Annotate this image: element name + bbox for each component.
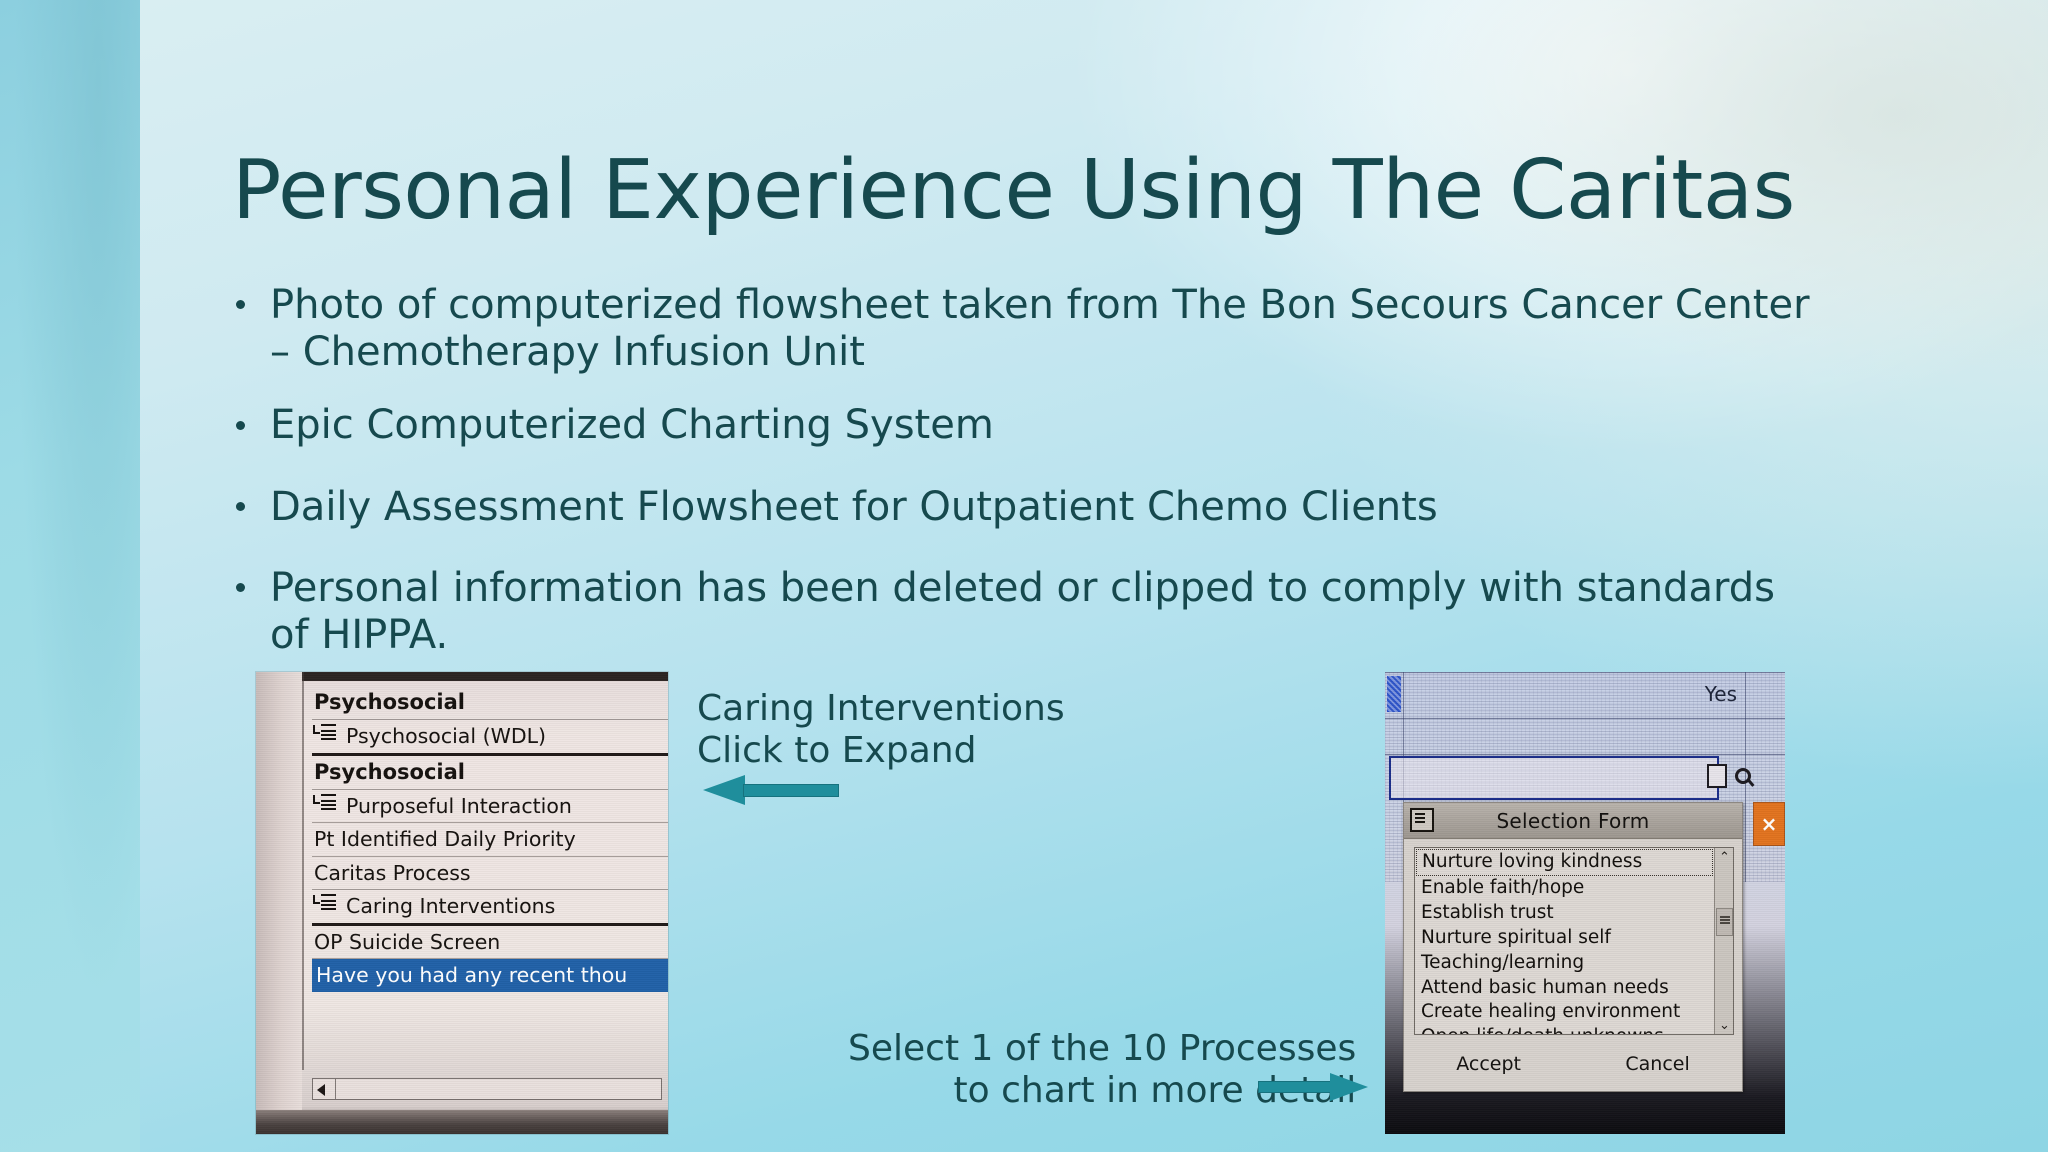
list-item-nurture-spiritual-self[interactable]: Nurture spiritual self (1415, 926, 1733, 951)
accept-button[interactable]: Accept (1446, 1051, 1531, 1077)
flowsheet-row-selected-question[interactable]: Have you had any recent thou (312, 959, 668, 992)
photo-bottom-edge (256, 1110, 668, 1134)
flowsheet-row-psychosocial-wdl[interactable]: Psychosocial (WDL) (312, 720, 668, 753)
arrow-left-icon (703, 775, 839, 805)
flowsheet-row-header-psychosocial: Psychosocial (312, 686, 668, 719)
callout-left-line2: Click to Expand (697, 730, 1065, 772)
photo-left-shade (256, 672, 302, 1134)
flowsheet-column-divider (302, 672, 304, 1070)
list-item-teaching-learning[interactable]: Teaching/learning (1415, 951, 1733, 976)
scroll-up-arrow-icon[interactable]: ⌃ (1715, 848, 1734, 866)
close-button[interactable]: × (1753, 802, 1785, 846)
selection-form-dialog: Selection Form Nurture loving kindness E… (1403, 802, 1743, 1092)
left-accent-band (0, 0, 140, 1152)
list-item-create-healing-environment[interactable]: Create healing environment (1415, 1000, 1733, 1025)
arrow-head (703, 775, 745, 805)
callout-left-line1: Caring Interventions (697, 688, 1065, 730)
cancel-button[interactable]: Cancel (1615, 1051, 1699, 1077)
epic-flowsheet-photo: Psychosocial Psychosocial (WDL) Psychoso… (256, 672, 668, 1134)
list-item-attend-basic-human-needs[interactable]: Attend basic human needs (1415, 975, 1733, 1000)
expand-list-icon (313, 794, 337, 814)
bullet-text-1: Photo of computerized flowsheet taken fr… (270, 282, 1810, 375)
list-item-open-life-death-unknowns[interactable]: Open life/death unknowns (1415, 1025, 1733, 1035)
bullet-text-4: Personal information has been deleted or… (270, 565, 1775, 658)
document-icon[interactable] (1707, 764, 1727, 788)
flowsheet-row-caritas-process[interactable]: Caritas Process (312, 857, 668, 890)
arrow-right-icon (1258, 1073, 1368, 1101)
bullet-item-4: Personal information has been deleted or… (232, 565, 1812, 659)
bullet-dot-icon (236, 421, 245, 430)
dialog-title: Selection Form (1496, 809, 1649, 833)
dialog-titlebar[interactable]: Selection Form (1404, 803, 1742, 839)
flowsheet-rows: Psychosocial Psychosocial (WDL) Psychoso… (312, 686, 668, 992)
search-icon[interactable] (1735, 768, 1751, 784)
arrow-shaft (1258, 1081, 1334, 1093)
bullet-dot-icon (236, 502, 245, 511)
flowsheet-row-pt-identified-daily-priority[interactable]: Pt Identified Daily Priority (312, 823, 668, 856)
expand-list-icon (313, 724, 337, 744)
arrow-shaft (743, 784, 839, 797)
grid-selected-cell[interactable] (1387, 676, 1401, 712)
grid-row-line (1385, 718, 1785, 719)
list-item-enable-faith-hope[interactable]: Enable faith/hope (1415, 876, 1733, 901)
row-label: Psychosocial (WDL) (346, 724, 546, 748)
bullet-dot-icon (236, 300, 245, 309)
scrollbar-divider (335, 1079, 336, 1099)
grid-row-line (1385, 754, 1785, 755)
bullet-dot-icon (236, 583, 245, 592)
list-item-nurture-loving-kindness[interactable]: Nurture loving kindness (1416, 849, 1713, 876)
flowsheet-row-purposeful-interaction[interactable]: Purposeful Interaction (312, 790, 668, 823)
arrow-head (1330, 1073, 1368, 1101)
horizontal-scrollbar[interactable] (312, 1078, 662, 1100)
bullet-text-2: Epic Computerized Charting System (270, 402, 994, 448)
scroll-left-arrow-icon[interactable] (317, 1084, 325, 1096)
row-label: Purposeful Interaction (346, 794, 572, 818)
photo-top-edge (302, 672, 668, 681)
flowsheet-row-header-psychosocial-2: Psychosocial (312, 756, 668, 789)
listbox-scrollbar[interactable]: ⌃ ⌄ (1714, 848, 1733, 1034)
bullet-text-3: Daily Assessment Flowsheet for Outpatien… (270, 484, 1438, 530)
flowsheet-row-op-suicide-screen[interactable]: OP Suicide Screen (312, 926, 668, 959)
expand-list-icon (313, 894, 337, 914)
grid-value-yes: Yes (1705, 682, 1737, 706)
page-title: Personal Experience Using The Caritas (232, 148, 1792, 234)
grid-row-line (1385, 672, 1785, 673)
grid-active-cell[interactable] (1389, 756, 1719, 800)
slide-canvas: Personal Experience Using The Caritas Ph… (0, 0, 2048, 1152)
window-icon (1410, 808, 1434, 832)
bullet-item-1: Photo of computerized flowsheet taken fr… (232, 282, 1812, 376)
bullet-list: Photo of computerized flowsheet taken fr… (232, 282, 1812, 685)
scrollbar-thumb[interactable] (1716, 908, 1733, 936)
bullet-item-2: Epic Computerized Charting System (232, 402, 1812, 449)
selection-form-photo: Yes × Selection Form Nurture loving kind… (1385, 672, 1785, 1134)
process-listbox[interactable]: Nurture loving kindness Enable faith/hop… (1414, 847, 1734, 1035)
dialog-button-row: Accept Cancel (1404, 1051, 1742, 1077)
callout-right-line1: Select 1 of the 10 Processes (848, 1028, 1356, 1070)
flowsheet-row-caring-interventions[interactable]: Caring Interventions (312, 890, 668, 923)
callout-caring-interventions: Caring Interventions Click to Expand (697, 688, 1065, 773)
scroll-down-arrow-icon[interactable]: ⌄ (1715, 1016, 1734, 1034)
list-item-establish-trust[interactable]: Establish trust (1415, 901, 1733, 926)
row-label: Caring Interventions (346, 894, 555, 918)
bullet-item-3: Daily Assessment Flowsheet for Outpatien… (232, 484, 1812, 531)
